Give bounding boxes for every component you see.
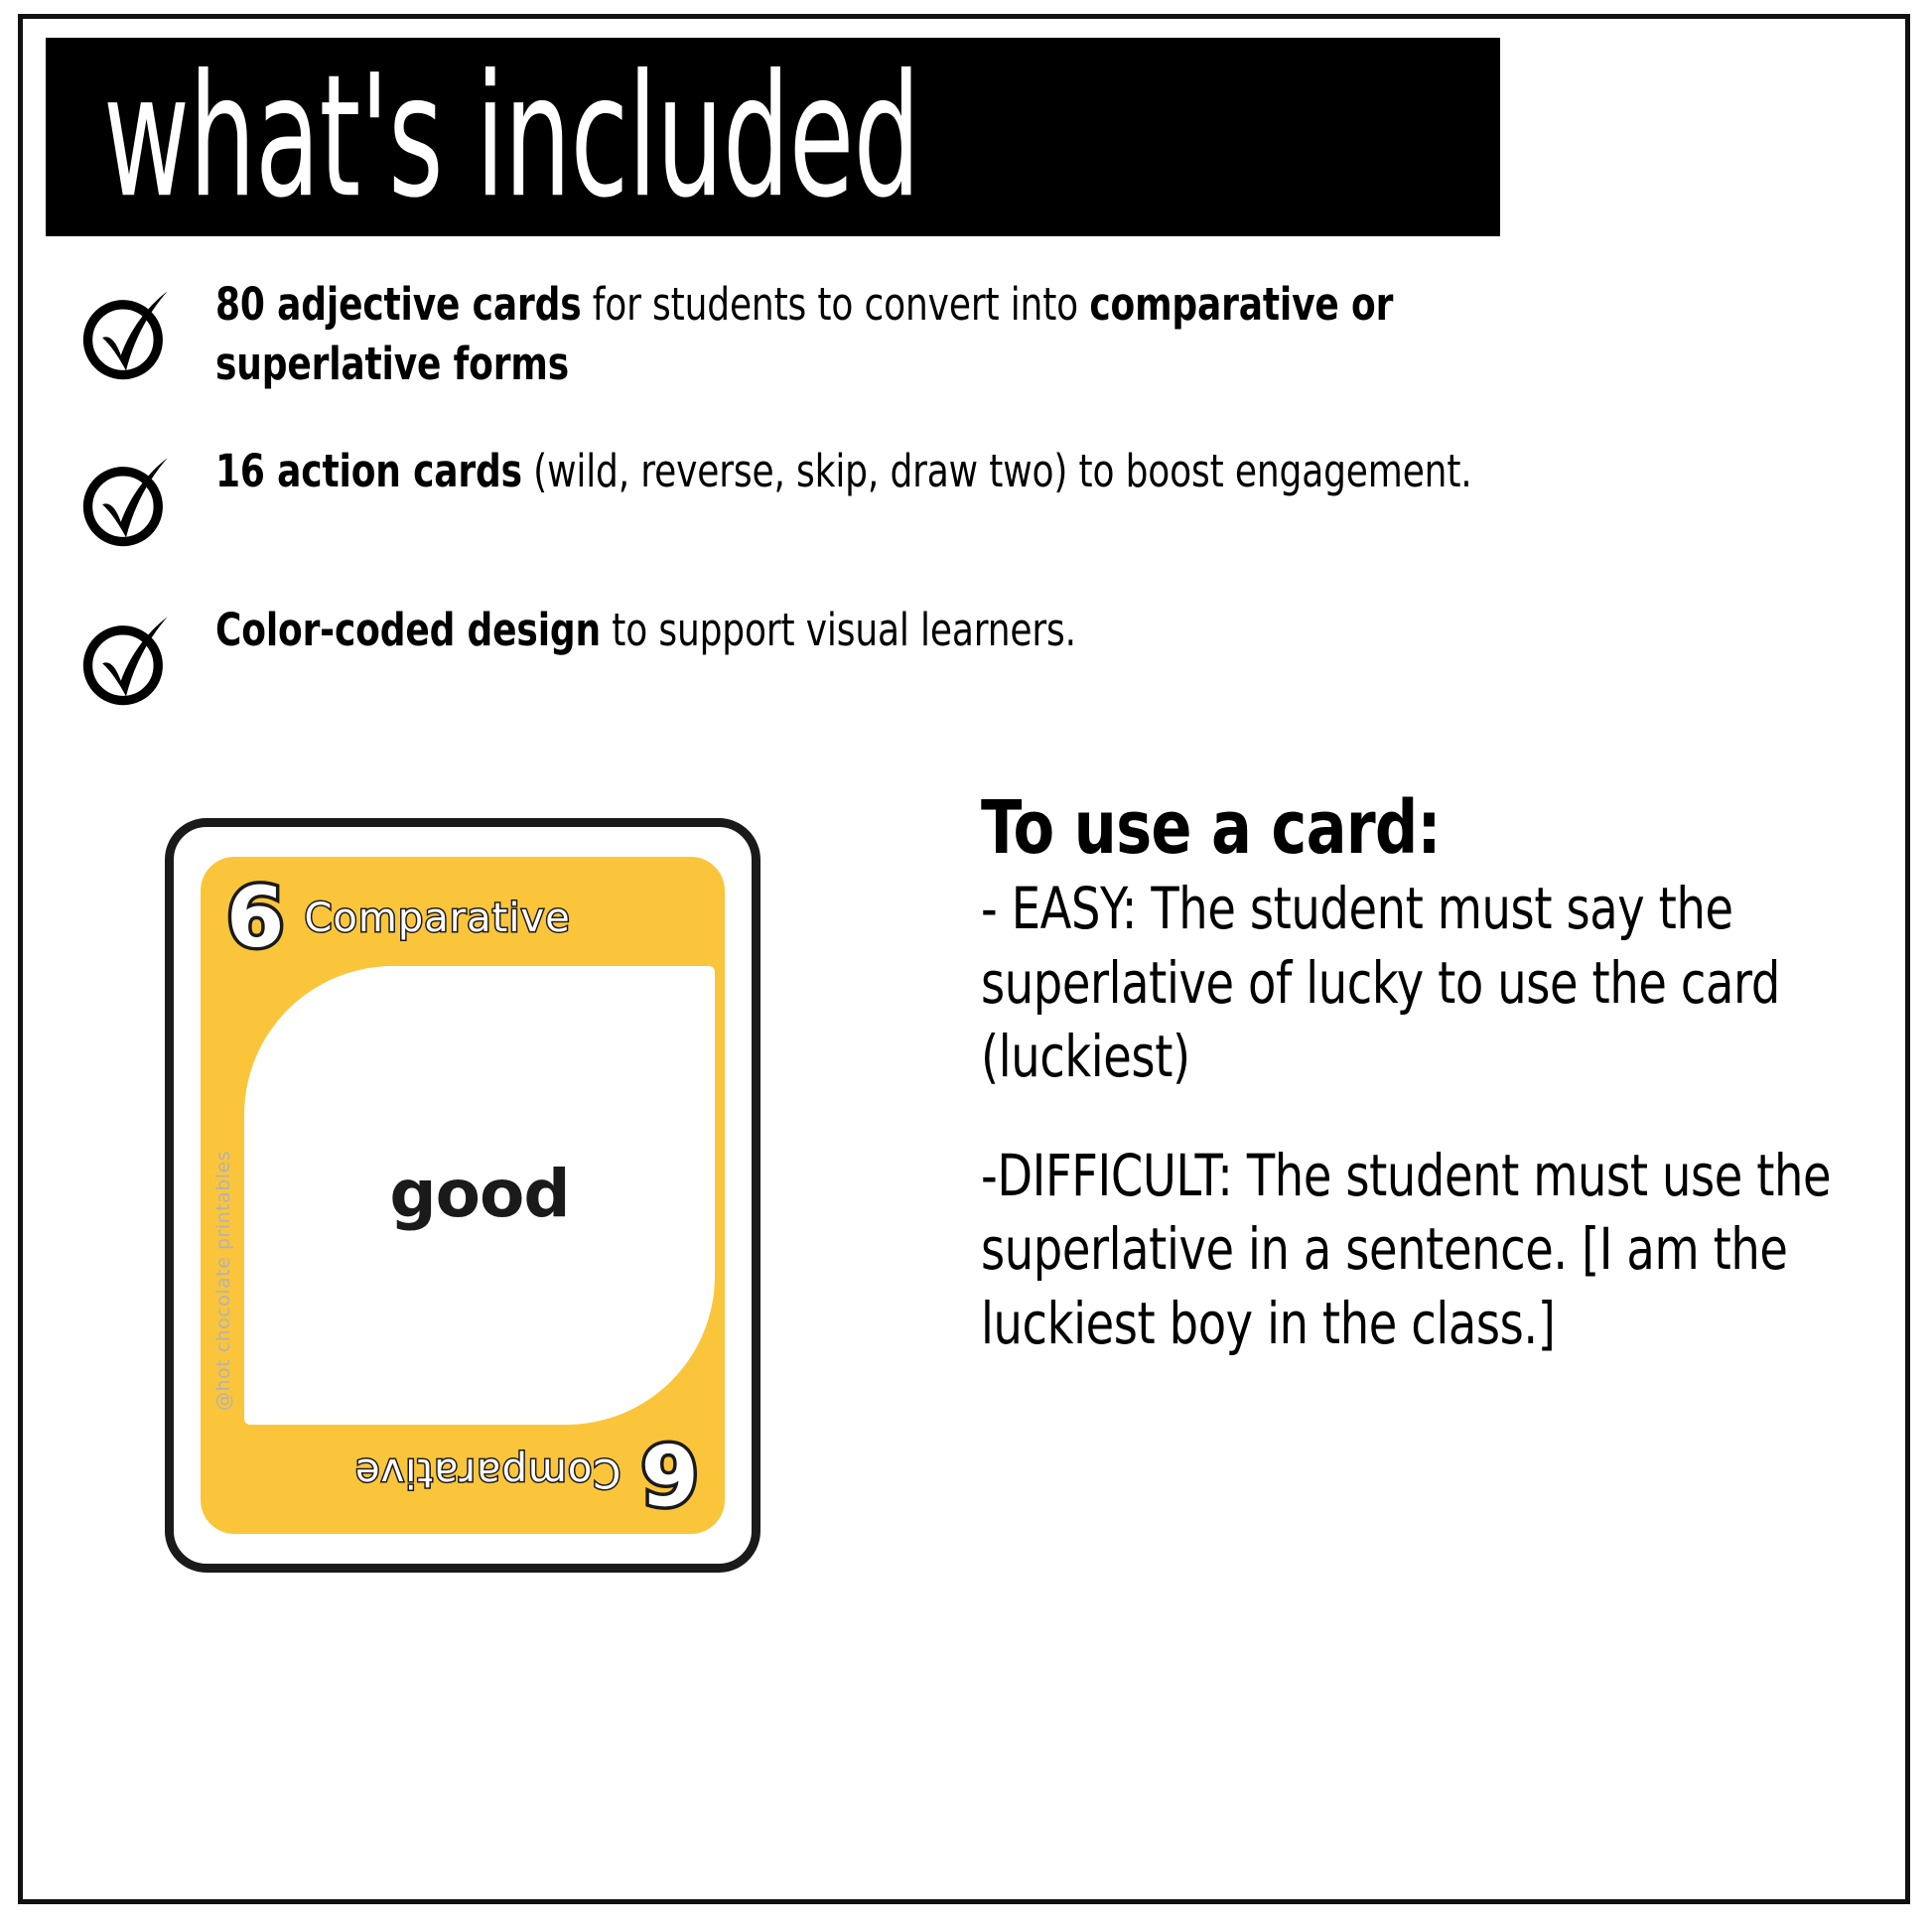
instructions-spacer [981,1093,1874,1139]
card-number: 6 [226,879,282,958]
instructions-easy: - EASY: The student must say the superla… [981,872,1874,1093]
card-corner-bottom: 6 Comparative [354,1433,699,1512]
poster-page: what's included 80 adjective cards for s… [0,0,1932,1932]
list-item-rest: (wild, reverse, skip, draw two) to boost… [522,445,1472,497]
list-item-lead: 16 action cards [215,445,522,497]
circle-check-icon [74,283,178,386]
card-number-mirrored: 6 [643,1433,699,1512]
instructions-panel: To use a card: - EASY: The student must … [981,791,1874,1360]
list-item-rest: for students to convert into [581,278,1089,331]
card-face: good @hot chocolate printables [244,966,715,1425]
page-title: what's included [103,53,919,221]
card-corner-top: 6 Comparative [226,879,571,958]
list-item-text: Color-coded design to support visual lea… [215,601,1532,660]
card-label-mirrored: Comparative [354,1449,621,1495]
instructions-heading: To use a card: [981,791,1874,866]
included-list: 80 adjective cards for students to conve… [74,275,1862,759]
circle-check-icon [74,609,178,712]
list-item-text: 16 action cards (wild, reverse, skip, dr… [215,442,1532,501]
list-item-text: 80 adjective cards for students to conve… [215,275,1532,394]
card-color-panel: 6 Comparative good @hot chocolate printa… [201,857,725,1534]
list-item: Color-coded design to support visual lea… [74,601,1862,712]
list-item: 16 action cards (wild, reverse, skip, dr… [74,442,1862,553]
list-item-lead: Color-coded design [215,604,601,656]
card-label: Comparative [304,896,570,941]
list-item-lead: 80 adjective cards [215,278,581,331]
instructions-difficult: -DIFFICULT: The student must use the sup… [981,1139,1874,1360]
page-frame: what's included 80 adjective cards for s… [18,14,1910,1904]
list-item: 80 adjective cards for students to conve… [74,275,1862,394]
watermark-text: @hot chocolate printables [212,1083,234,1411]
header-banner: what's included [46,38,1500,236]
example-card: 6 Comparative good @hot chocolate printa… [165,818,760,1573]
card-word: good [244,1156,715,1232]
circle-check-icon [74,450,178,553]
list-item-rest: to support visual learners. [601,604,1076,656]
